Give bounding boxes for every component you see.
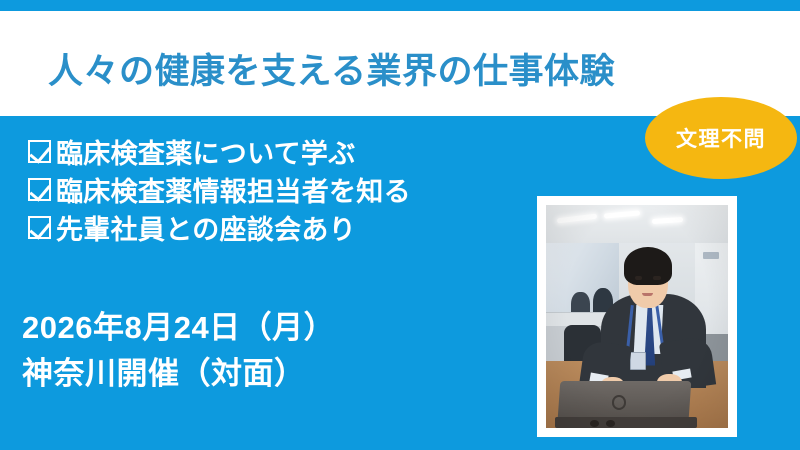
slide-canvas: 人々の健康を支える業界の仕事体験 臨床検査薬について学ぶ 臨床検査薬情報担当者を… xyxy=(0,0,800,450)
event-venue: 神奈川開催（対面） xyxy=(22,351,335,397)
list-item: 先輩社員との座談会あり xyxy=(28,208,528,246)
list-item: 臨床検査薬について学ぶ xyxy=(28,132,528,170)
photo-vignette xyxy=(546,205,728,428)
list-item-label: 先輩社員との座談会あり xyxy=(56,208,356,247)
header-band: 人々の健康を支える業界の仕事体験 xyxy=(0,11,800,116)
status-badge: 文理不問 xyxy=(645,97,797,179)
page-title: 人々の健康を支える業界の仕事体験 xyxy=(48,51,668,93)
photo-frame xyxy=(537,196,737,437)
list-item-label: 臨床検査薬情報担当者を知る xyxy=(56,170,411,209)
event-date: 2026年8月24日（月） xyxy=(22,305,335,351)
checked-box-icon xyxy=(28,216,51,239)
top-accent-bar xyxy=(0,0,800,11)
list-item-label: 臨床検査薬について学ぶ xyxy=(56,132,356,171)
employee-photo xyxy=(546,205,728,428)
checked-box-icon xyxy=(28,140,51,163)
event-info: 2026年8月24日（月） 神奈川開催（対面） xyxy=(22,305,335,397)
status-badge-label: 文理不問 xyxy=(676,123,766,153)
list-item: 臨床検査薬情報担当者を知る xyxy=(28,170,528,208)
checked-box-icon xyxy=(28,178,51,201)
bullet-list: 臨床検査薬について学ぶ 臨床検査薬情報担当者を知る 先輩社員との座談会あり xyxy=(28,132,528,246)
